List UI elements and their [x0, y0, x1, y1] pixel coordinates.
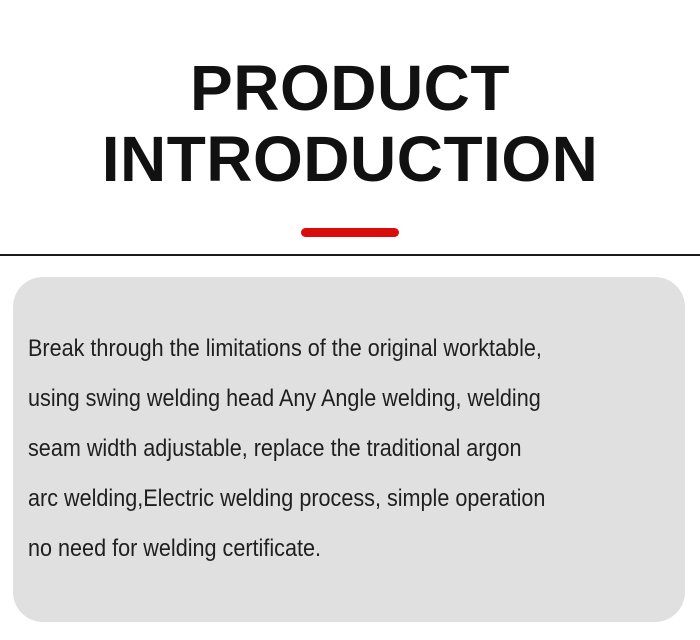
- header-divider: [0, 254, 700, 256]
- header-section: PRODUCT INTRODUCTION: [0, 0, 700, 256]
- description-panel: Break through the limitations of the ori…: [13, 277, 685, 622]
- accent-bar-container: [0, 228, 700, 237]
- description-text-block: Break through the limitations of the ori…: [28, 324, 673, 574]
- product-introduction-page: PRODUCT INTRODUCTION Break through the l…: [0, 0, 700, 640]
- red-accent-bar: [301, 228, 399, 237]
- description-line: Break through the limitations of the ori…: [28, 324, 609, 374]
- page-title-line-1: PRODUCT: [0, 57, 700, 120]
- page-title-line-2: INTRODUCTION: [0, 128, 700, 191]
- description-line: arc welding,Electric welding process, si…: [28, 474, 609, 524]
- page-title: PRODUCT INTRODUCTION: [0, 57, 700, 190]
- description-line: no need for welding certificate.: [28, 524, 609, 574]
- description-line: seam width adjustable, replace the tradi…: [28, 424, 609, 474]
- description-line: using swing welding head Any Angle weldi…: [28, 374, 609, 424]
